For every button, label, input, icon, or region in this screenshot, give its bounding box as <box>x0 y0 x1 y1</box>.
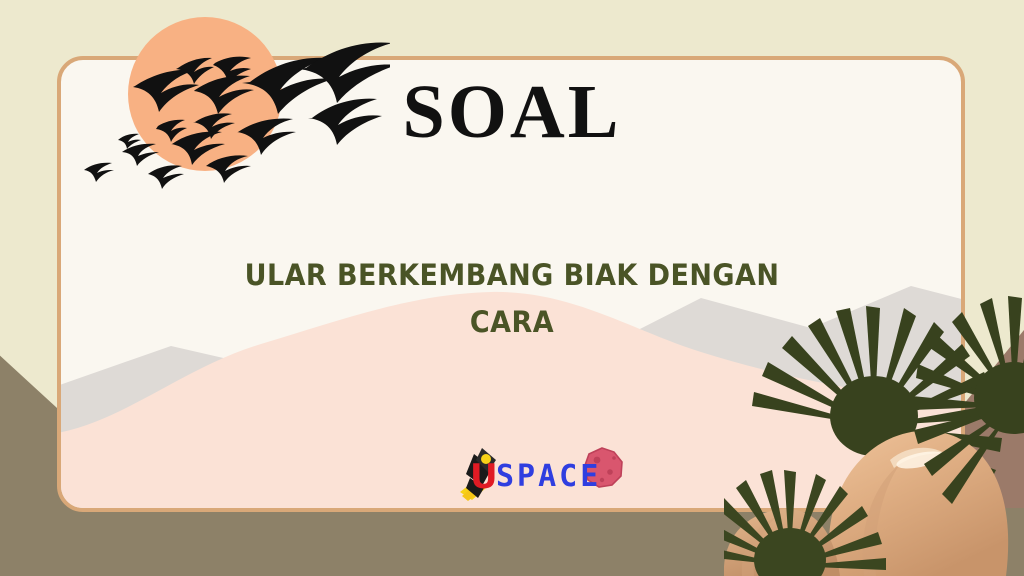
logo-letters-space: SPACE <box>496 459 601 494</box>
page-title: SOAL <box>0 74 1024 150</box>
background-ground-band <box>0 508 1024 576</box>
slide-canvas: SOAL ULAR BERKEMBANG BIAK DENGAN CARA <box>0 0 1024 576</box>
uspace-logo: U SPACE <box>452 438 632 510</box>
question-text: ULAR BERKEMBANG BIAK DENGAN CARA <box>233 252 791 346</box>
